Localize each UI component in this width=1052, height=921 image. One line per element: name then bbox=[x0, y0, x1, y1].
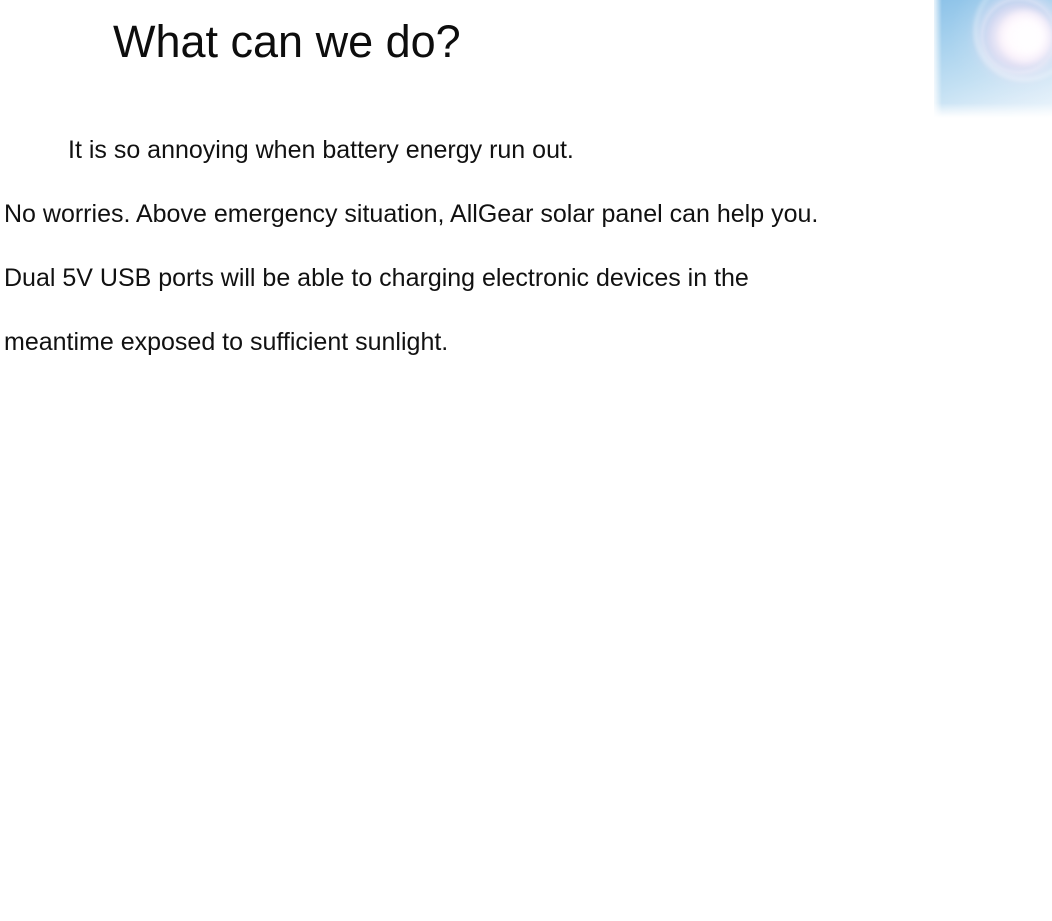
body-line-2: No worries. Above emergency situation, A… bbox=[0, 182, 1000, 246]
body-copy: It is so annoying when battery energy ru… bbox=[0, 118, 1000, 374]
body-line-4: meantime exposed to sufficient sunlight. bbox=[0, 310, 1000, 374]
sun-flare-image bbox=[934, 0, 1052, 119]
sun-left-fade bbox=[934, 0, 942, 119]
sun-bottom-fade bbox=[934, 103, 1052, 119]
page-title: What can we do? bbox=[113, 16, 461, 68]
body-line-1: It is so annoying when battery energy ru… bbox=[0, 118, 1000, 182]
product-photo: 78% 78% Charged bbox=[0, 455, 1052, 921]
body-line-3: Dual 5V USB ports will be able to chargi… bbox=[0, 246, 1000, 310]
sun-core-glow bbox=[1000, 10, 1052, 65]
